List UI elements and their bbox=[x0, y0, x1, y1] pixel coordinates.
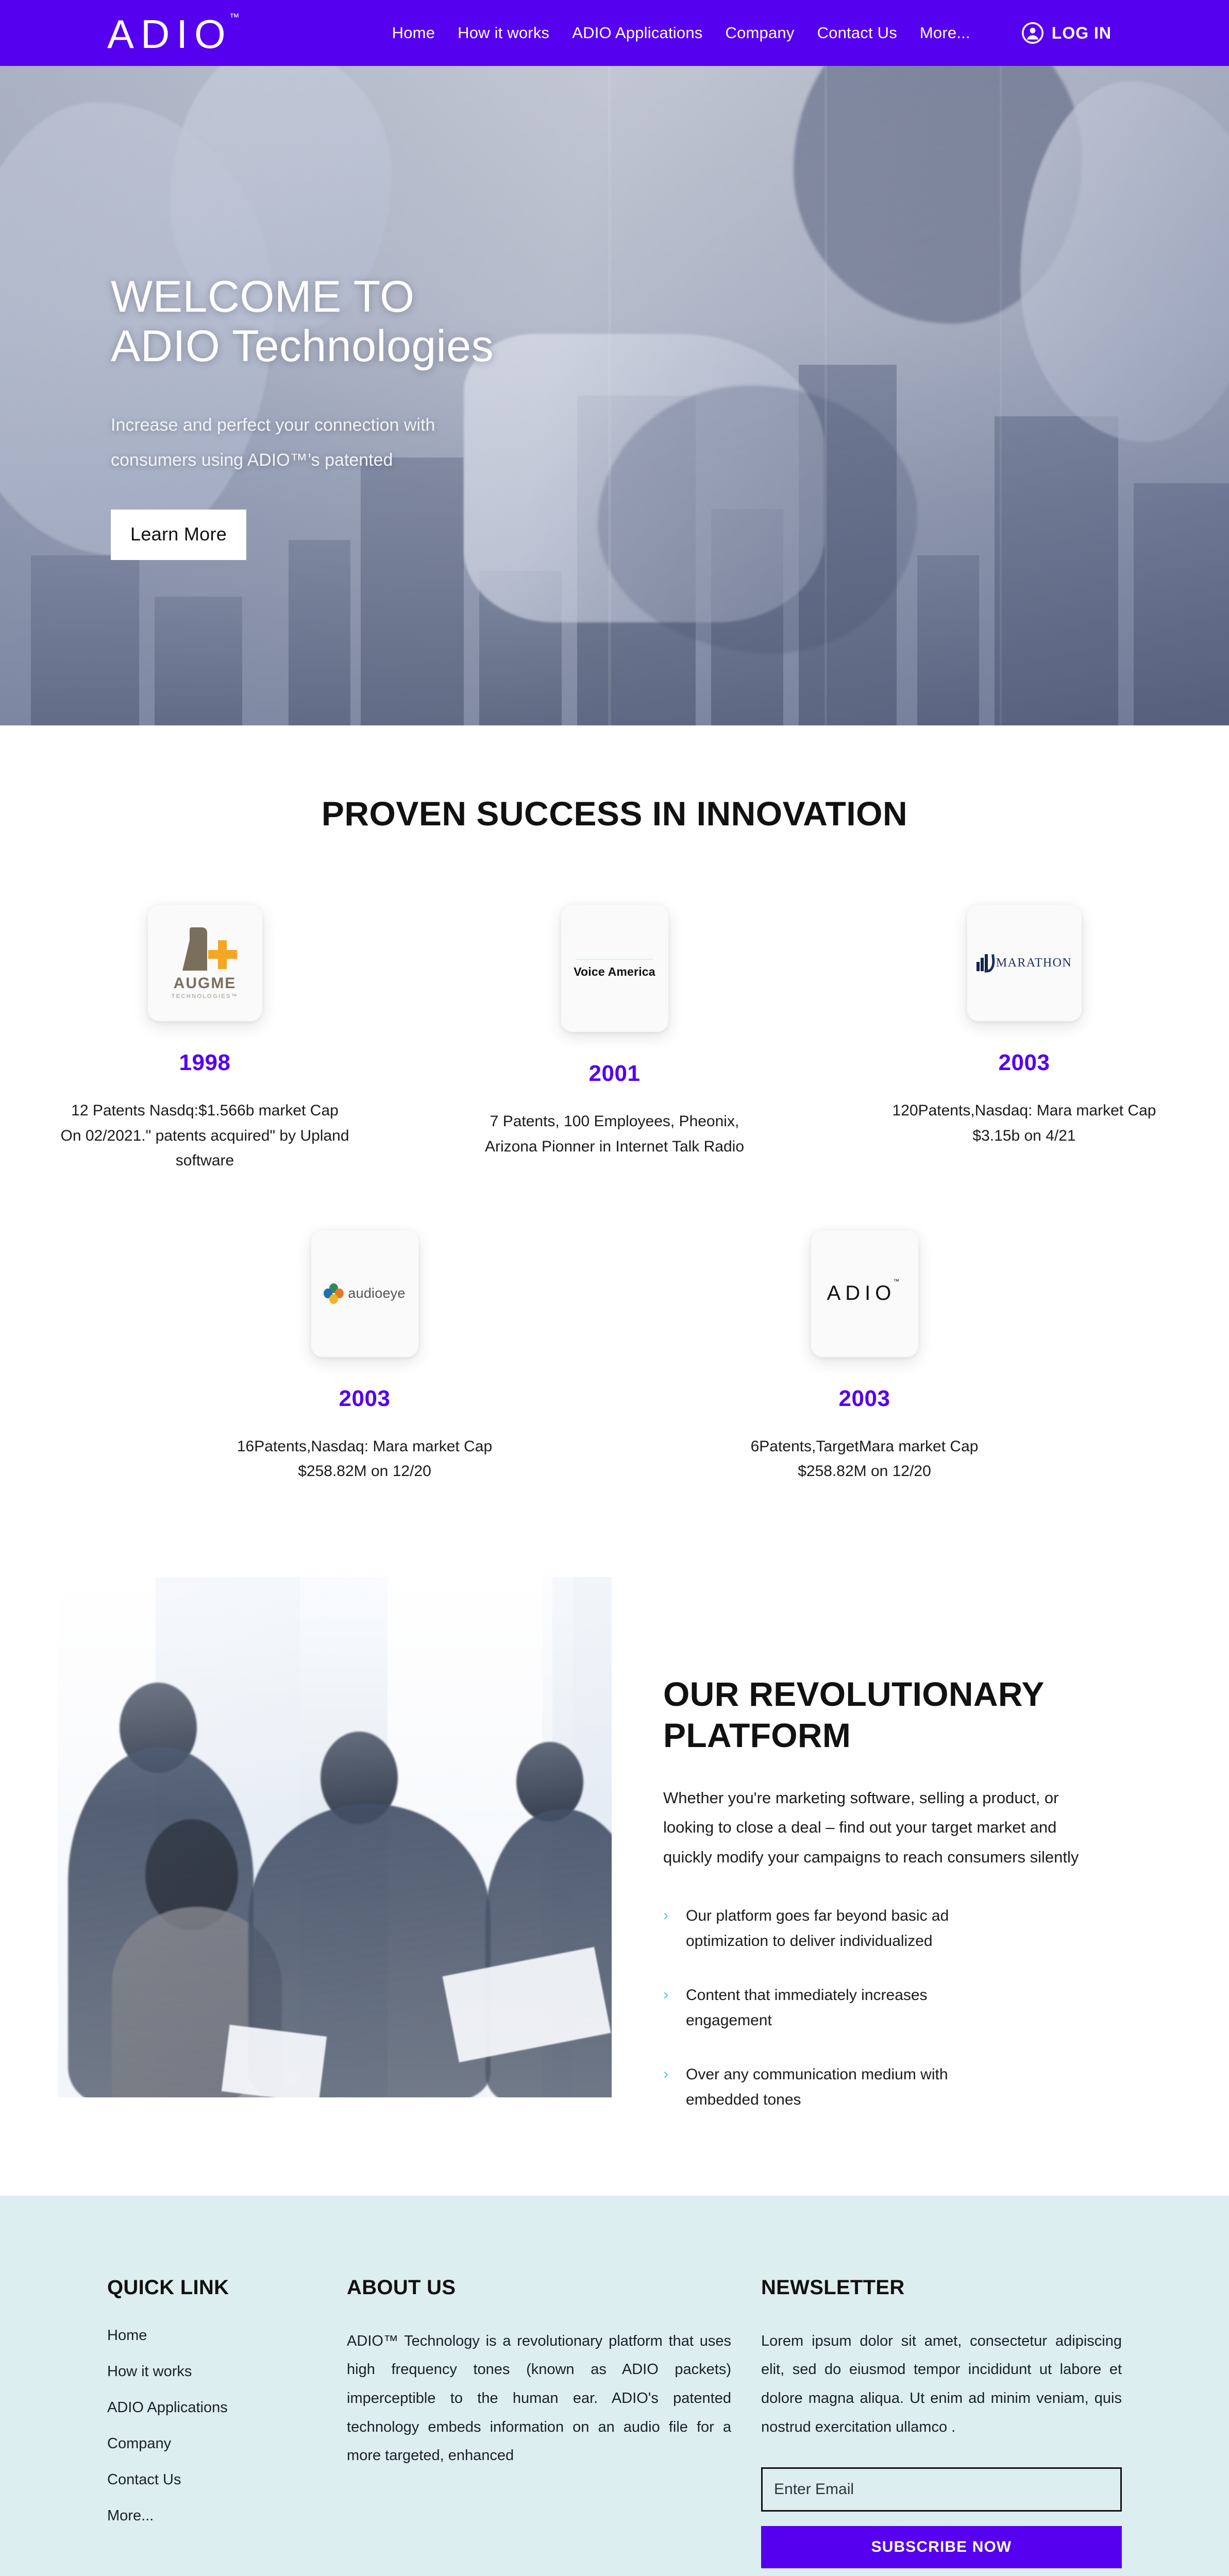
footer-link-home[interactable]: Home bbox=[107, 2327, 347, 2344]
learn-more-button[interactable]: Learn More bbox=[111, 510, 246, 560]
innovation-cards-row-1: AUGME TECHNOLOGIES™ 1998 12 Patents Nasd… bbox=[0, 905, 1229, 1174]
hero-title-line-2: ADIO Technologies bbox=[111, 321, 494, 371]
augme-logo-name: AUGME bbox=[174, 975, 237, 992]
card-description: 120Patents,Nasdaq: Mara market Cap $3.15… bbox=[880, 1098, 1169, 1148]
innovation-card-augme: AUGME TECHNOLOGIES™ 1998 12 Patents Nasd… bbox=[0, 905, 410, 1174]
footer-link-more[interactable]: More... bbox=[107, 2507, 347, 2524]
innovation-card-voice-america: Voice America 2001 7 Patents, 100 Employ… bbox=[410, 905, 819, 1174]
footer-about-text: ADIO™ Technology is a revolutionary plat… bbox=[347, 2327, 731, 2470]
site-footer: QUICK LINK Home How it works ADIO Applic… bbox=[0, 2196, 1229, 2576]
user-account-icon bbox=[1022, 22, 1043, 44]
platform-bullet-list: › Our platform goes far beyond basic ad … bbox=[663, 1904, 1229, 2113]
nav-item-adio-applications[interactable]: ADIO Applications bbox=[572, 24, 702, 42]
footer-about-heading: ABOUT US bbox=[347, 2276, 731, 2299]
proven-success-section: PROVEN SUCCESS IN INNOVATION AUGME TECHN… bbox=[0, 725, 1229, 1515]
logo-card: AUGME TECHNOLOGIES™ bbox=[148, 905, 262, 1021]
logo-card: audioeye bbox=[311, 1230, 418, 1357]
list-item: › Content that immediately increases eng… bbox=[663, 1983, 1229, 2033]
nav-item-home[interactable]: Home bbox=[392, 24, 435, 42]
augme-logo: AUGME TECHNOLOGIES™ bbox=[169, 927, 241, 999]
proven-success-title: PROVEN SUCCESS IN INNOVATION bbox=[0, 794, 1229, 833]
footer-newsletter-text: Lorem ipsum dolor sit amet, consectetur … bbox=[761, 2327, 1122, 2442]
footer-link-how-it-works[interactable]: How it works bbox=[107, 2363, 347, 2380]
site-logo-text: ADIO bbox=[107, 11, 232, 57]
login-button[interactable]: LOG IN bbox=[1022, 22, 1112, 44]
card-year: 1998 bbox=[179, 1050, 231, 1076]
footer-link-contact-us[interactable]: Contact Us bbox=[107, 2471, 347, 2488]
voice-america-logo: Voice America bbox=[574, 959, 655, 979]
audioeye-dots-icon bbox=[324, 1283, 344, 1304]
landing-page: ADIO™ Home How it works ADIO Application… bbox=[0, 0, 1229, 2576]
card-year: 2003 bbox=[339, 1386, 391, 1412]
adio-logo: ADIO™ bbox=[827, 1282, 902, 1305]
nav-item-company[interactable]: Company bbox=[725, 24, 794, 42]
platform-title: OUR REVOLUTIONARY PLATFORM bbox=[663, 1673, 1055, 1756]
platform-bullet-text: Our platform goes far beyond basic ad op… bbox=[686, 1904, 1005, 1954]
hero-title: WELCOME TO ADIO Technologies bbox=[111, 272, 1229, 371]
marathon-bars-icon bbox=[977, 955, 994, 972]
logo-card: Voice America bbox=[561, 905, 668, 1032]
platform-text-block: OUR REVOLUTIONARY PLATFORM Whether you'r… bbox=[612, 1577, 1229, 2142]
footer-columns: QUICK LINK Home How it works ADIO Applic… bbox=[107, 2276, 1122, 2569]
site-logo[interactable]: ADIO™ bbox=[107, 12, 243, 54]
nav-links: Home How it works ADIO Applications Comp… bbox=[392, 22, 1122, 44]
subscribe-now-button[interactable]: SUBSCRIBE NOW bbox=[761, 2526, 1122, 2568]
hero-content: WELCOME TO ADIO Technologies Increase an… bbox=[0, 66, 1229, 560]
nav-item-how-it-works[interactable]: How it works bbox=[458, 24, 549, 42]
hero-section: WELCOME TO ADIO Technologies Increase an… bbox=[0, 66, 1229, 725]
innovation-cards-row-2: audioeye 2003 16Patents,Nasdaq: Mara mar… bbox=[0, 1230, 1229, 1484]
footer-link-company[interactable]: Company bbox=[107, 2435, 347, 2452]
augme-logo-sub: TECHNOLOGIES™ bbox=[172, 993, 239, 999]
card-description: 16Patents,Nasdaq: Mara market Cap $258.8… bbox=[221, 1434, 509, 1484]
platform-bullet-text: Over any communication medium with embed… bbox=[686, 2062, 1005, 2112]
card-description: 12 Patents Nasdq:$1.566b market Cap On 0… bbox=[61, 1098, 349, 1174]
audioeye-logo-name: audioeye bbox=[348, 1285, 405, 1301]
footer-newsletter-heading: NEWSLETTER bbox=[761, 2276, 1122, 2299]
site-logo-trademark: ™ bbox=[229, 12, 240, 23]
voice-america-logo-name: Voice America bbox=[574, 965, 655, 979]
chevron-right-icon: › bbox=[663, 1904, 672, 1954]
innovation-card-audioeye: audioeye 2003 16Patents,Nasdaq: Mara mar… bbox=[184, 1230, 545, 1484]
card-year: 2001 bbox=[589, 1061, 641, 1087]
marathon-logo: MARATHON bbox=[977, 955, 1072, 972]
email-input[interactable] bbox=[761, 2467, 1122, 2512]
card-year: 2003 bbox=[839, 1386, 890, 1412]
card-description: 6Patents,TargetMara market Cap $258.82M … bbox=[720, 1434, 1009, 1484]
audioeye-logo: audioeye bbox=[324, 1283, 405, 1304]
footer-about-us: ABOUT US ADIO™ Technology is a revolutio… bbox=[347, 2276, 731, 2569]
adio-logo-name: ADIO bbox=[827, 1282, 896, 1304]
list-item: › Our platform goes far beyond basic ad … bbox=[663, 1904, 1229, 1954]
footer-newsletter: NEWSLETTER Lorem ipsum dolor sit amet, c… bbox=[761, 2276, 1122, 2569]
top-navigation-bar: ADIO™ Home How it works ADIO Application… bbox=[0, 0, 1229, 66]
innovation-card-marathon: MARATHON 2003 120Patents,Nasdaq: Mara ma… bbox=[819, 905, 1229, 1174]
chevron-right-icon: › bbox=[663, 1983, 672, 2033]
marathon-logo-name: MARATHON bbox=[996, 956, 1072, 970]
platform-bullet-text: Content that immediately increases engag… bbox=[686, 1983, 1005, 2033]
platform-body-text: Whether you're marketing software, selli… bbox=[663, 1783, 1091, 1872]
footer-quick-links-heading: QUICK LINK bbox=[107, 2276, 347, 2299]
hero-title-line-1: WELCOME TO bbox=[111, 272, 415, 321]
logo-card: ADIO™ bbox=[811, 1230, 918, 1357]
augme-mark-icon bbox=[169, 927, 241, 971]
card-description: 7 Patents, 100 Employees, Pheonix, Arizo… bbox=[470, 1109, 759, 1159]
innovation-card-adio: ADIO™ 2003 6Patents,TargetMara market Ca… bbox=[684, 1230, 1045, 1484]
revolutionary-platform-section: OUR REVOLUTIONARY PLATFORM Whether you'r… bbox=[0, 1577, 1229, 2142]
card-year: 2003 bbox=[999, 1050, 1050, 1076]
logo-card: MARATHON bbox=[967, 905, 1082, 1021]
footer-quick-links: QUICK LINK Home How it works ADIO Applic… bbox=[107, 2276, 347, 2569]
login-label: LOG IN bbox=[1052, 24, 1112, 43]
platform-photo bbox=[58, 1577, 612, 2097]
chevron-right-icon: › bbox=[663, 2062, 672, 2112]
hero-subtitle: Increase and perfect your connection wit… bbox=[111, 408, 441, 478]
list-item: › Over any communication medium with emb… bbox=[663, 2062, 1229, 2112]
nav-item-more[interactable]: More... bbox=[920, 24, 970, 42]
footer-link-adio-applications[interactable]: ADIO Applications bbox=[107, 2399, 347, 2416]
nav-item-contact-us[interactable]: Contact Us bbox=[817, 24, 897, 42]
